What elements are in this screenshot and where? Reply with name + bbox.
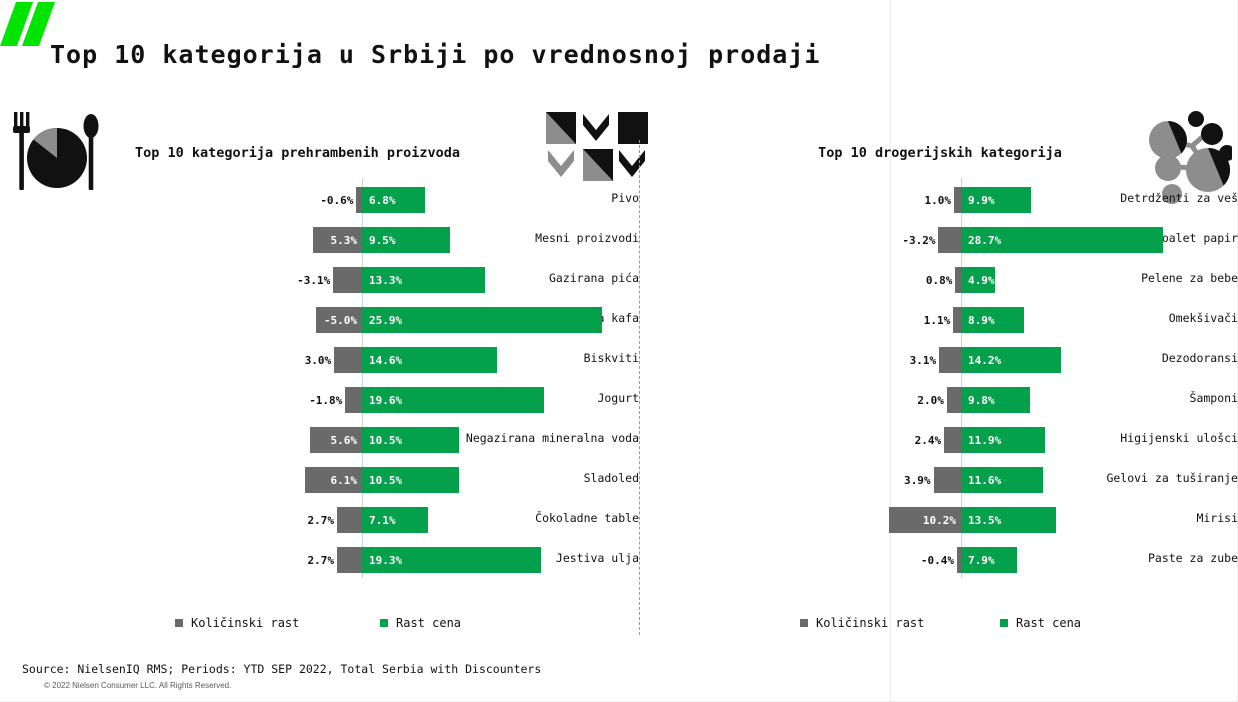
chart-row: Čokoladne table2.7%7.1%	[0, 498, 639, 538]
nielseniq-logo	[4, 2, 54, 46]
legend-item-price: Rast cena	[380, 616, 461, 630]
bar-price-value: 9.5%	[362, 234, 396, 247]
legend-swatch-price-icon	[1000, 619, 1008, 627]
bar-price-growth: 25.9%	[362, 307, 602, 333]
bar-price-value: 14.2%	[961, 354, 1001, 367]
chart-row: Pivo-0.6%6.8%	[0, 178, 639, 218]
bar-price-value: 7.9%	[961, 554, 995, 567]
bar-price-growth: 4.9%	[961, 267, 995, 293]
bar-volume-growth: 1.0%	[954, 187, 961, 213]
bar-volume-growth: 3.9%	[934, 467, 961, 493]
bar-price-growth: 10.5%	[362, 427, 459, 453]
bar-price-growth: 28.7%	[961, 227, 1163, 253]
bar-volume-growth: 1.1%	[953, 307, 961, 333]
bar-price-growth: 11.6%	[961, 467, 1043, 493]
chart-row: Jestiva ulja2.7%19.3%	[0, 538, 639, 578]
chart-row: Jogurt-1.8%19.6%	[0, 378, 639, 418]
bar-volume-value: 3.9%	[904, 474, 934, 487]
bar-price-value: 28.7%	[961, 234, 1001, 247]
bar-price-value: 13.5%	[961, 514, 1001, 527]
chart-row: Gelovi za tuširanje3.9%11.6%	[640, 458, 1238, 498]
row-plot: -3.1%13.3%	[0, 258, 639, 298]
row-plot: 3.9%11.6%	[640, 458, 1238, 498]
bar-price-value: 9.8%	[961, 394, 995, 407]
legend-label-price: Rast cena	[1016, 616, 1081, 630]
chart-row: Negazirana mineralna voda5.6%10.5%	[0, 418, 639, 458]
panel-drogerija-title: Top 10 drogerijskih kategorija	[641, 145, 1238, 161]
bar-volume-value: 5.6%	[330, 434, 362, 447]
bar-price-growth: 14.2%	[961, 347, 1061, 373]
row-plot: 6.1%10.5%	[0, 458, 639, 498]
row-plot: 1.0%9.9%	[640, 178, 1238, 218]
panel-drogerija: Top 10 drogerijskih kategorija Detrdžent…	[640, 120, 1238, 640]
chart-row: Biskviti3.0%14.6%	[0, 338, 639, 378]
bar-volume-value: 2.4%	[915, 434, 945, 447]
row-plot: 3.1%14.2%	[640, 338, 1238, 378]
bar-volume-value: 0.8%	[926, 274, 956, 287]
row-plot: 0.8%4.9%	[640, 258, 1238, 298]
chart-row: Sladoled6.1%10.5%	[0, 458, 639, 498]
chart-drogerija: Detrdženti za veš1.0%9.9%Toalet papir-3.…	[640, 178, 1238, 640]
bar-price-value: 14.6%	[362, 354, 402, 367]
bar-price-value: 13.3%	[362, 274, 402, 287]
bar-price-growth: 7.9%	[961, 547, 1017, 573]
bar-price-growth: 10.5%	[362, 467, 459, 493]
bar-volume-value: 2.7%	[307, 514, 337, 527]
bar-price-growth: 14.6%	[362, 347, 497, 373]
bar-volume-growth: -3.2%	[938, 227, 961, 253]
legend-label-volume: Količinski rast	[191, 616, 299, 630]
row-plot: 1.1%8.9%	[640, 298, 1238, 338]
chart-food: Pivo-0.6%6.8%Mesni proizvodi5.3%9.5%Gazi…	[0, 178, 639, 640]
bar-volume-growth: 5.3%	[313, 227, 362, 253]
bar-volume-value: 5.3%	[330, 234, 362, 247]
bar-volume-value: -3.2%	[902, 234, 938, 247]
bar-price-growth: 19.6%	[362, 387, 544, 413]
bar-price-growth: 13.5%	[961, 507, 1056, 533]
row-plot: 2.7%7.1%	[0, 498, 639, 538]
bar-volume-value: -1.8%	[309, 394, 345, 407]
bar-price-growth: 13.3%	[362, 267, 485, 293]
row-plot: 2.4%11.9%	[640, 418, 1238, 458]
bar-price-growth: 9.9%	[961, 187, 1031, 213]
row-plot: 2.7%19.3%	[0, 538, 639, 578]
chart-drogerija-legend: Količinski rast Rast cena	[640, 616, 1238, 636]
bar-volume-value: -0.4%	[921, 554, 957, 567]
bar-volume-value: 3.0%	[305, 354, 335, 367]
footer-copyright: © 2022 Nielsen Consumer LLC. All Rights …	[44, 681, 231, 690]
bar-price-value: 7.1%	[362, 514, 396, 527]
chart-row: Mlevena kafa-5.0%25.9%	[0, 298, 639, 338]
bar-price-value: 11.9%	[961, 434, 1001, 447]
row-plot: 10.2%13.5%	[640, 498, 1238, 538]
chart-row: Dezodoransi3.1%14.2%	[640, 338, 1238, 378]
legend-item-volume: Količinski rast	[800, 616, 924, 630]
row-plot: 5.6%10.5%	[0, 418, 639, 458]
chart-row: Detrdženti za veš1.0%9.9%	[640, 178, 1238, 218]
bar-volume-growth: 3.0%	[334, 347, 362, 373]
chart-drogerija-rows: Detrdženti za veš1.0%9.9%Toalet papir-3.…	[640, 178, 1238, 578]
page-title: Top 10 kategorija u Srbiji po vrednosnoj…	[50, 40, 1050, 69]
row-plot: -5.0%25.9%	[0, 298, 639, 338]
legend-item-price: Rast cena	[1000, 616, 1081, 630]
bar-price-value: 10.5%	[362, 474, 402, 487]
row-plot: 3.0%14.6%	[0, 338, 639, 378]
bar-volume-value: 10.2%	[923, 514, 961, 527]
bar-price-value: 19.6%	[362, 394, 402, 407]
bar-volume-growth: -3.1%	[333, 267, 362, 293]
chart-food-legend: Količinski rast Rast cena	[0, 616, 639, 636]
legend-item-volume: Količinski rast	[175, 616, 299, 630]
bar-price-growth: 9.5%	[362, 227, 450, 253]
chart-row: Gazirana pića-3.1%13.3%	[0, 258, 639, 298]
row-plot: -3.2%28.7%	[640, 218, 1238, 258]
bar-volume-value: -3.1%	[297, 274, 333, 287]
legend-label-volume: Količinski rast	[816, 616, 924, 630]
chart-row: Toalet papir-3.2%28.7%	[640, 218, 1238, 258]
bar-volume-growth: -1.8%	[345, 387, 362, 413]
bar-price-value: 8.9%	[961, 314, 995, 327]
panel-food-title: Top 10 kategorija prehrambenih proizvoda	[0, 145, 617, 161]
bar-price-value: 6.8%	[362, 194, 396, 207]
row-plot: 2.0%9.8%	[640, 378, 1238, 418]
chart-row: Paste za zube-0.4%7.9%	[640, 538, 1238, 578]
chart-row: Šamponi2.0%9.8%	[640, 378, 1238, 418]
bar-volume-growth: 2.0%	[947, 387, 961, 413]
bar-volume-growth: 5.6%	[310, 427, 362, 453]
bar-price-growth: 6.8%	[362, 187, 425, 213]
chart-food-rows: Pivo-0.6%6.8%Mesni proizvodi5.3%9.5%Gazi…	[0, 178, 639, 578]
bar-price-growth: 8.9%	[961, 307, 1024, 333]
footer-source: Source: NielsenIQ RMS; Periods: YTD SEP …	[22, 662, 541, 676]
chart-row: Mirisi10.2%13.5%	[640, 498, 1238, 538]
bar-volume-growth: 2.4%	[944, 427, 961, 453]
row-plot: -0.6%6.8%	[0, 178, 639, 218]
bar-volume-growth: 2.7%	[337, 507, 362, 533]
bar-price-value: 11.6%	[961, 474, 1001, 487]
bar-volume-value: 2.0%	[917, 394, 947, 407]
bar-volume-value: 1.0%	[924, 194, 954, 207]
bar-volume-growth: 3.1%	[939, 347, 961, 373]
chart-row: Pelene za bebe0.8%4.9%	[640, 258, 1238, 298]
chart-row: Omekšivači1.1%8.9%	[640, 298, 1238, 338]
bar-volume-value: 1.1%	[924, 314, 954, 327]
legend-label-price: Rast cena	[396, 616, 461, 630]
bar-price-growth: 19.3%	[362, 547, 541, 573]
bar-volume-value: 2.7%	[307, 554, 337, 567]
bar-price-value: 25.9%	[362, 314, 402, 327]
panel-food: Top 10 kategorija prehrambenih proizvoda…	[0, 120, 639, 640]
chart-row: Higijenski ulošci2.4%11.9%	[640, 418, 1238, 458]
bar-volume-growth: 2.7%	[337, 547, 362, 573]
legend-swatch-volume-icon	[175, 619, 183, 627]
bar-volume-value: 3.1%	[910, 354, 940, 367]
chart-row: Mesni proizvodi5.3%9.5%	[0, 218, 639, 258]
legend-swatch-volume-icon	[800, 619, 808, 627]
slide-root: Top 10 kategorija u Srbiji po vrednosnoj…	[0, 0, 1238, 702]
bar-price-growth: 11.9%	[961, 427, 1045, 453]
bar-volume-value: -5.0%	[324, 314, 362, 327]
bar-price-value: 10.5%	[362, 434, 402, 447]
bar-price-value: 4.9%	[961, 274, 995, 287]
bar-volume-growth: 10.2%	[889, 507, 961, 533]
row-plot: -0.4%7.9%	[640, 538, 1238, 578]
bar-price-value: 9.9%	[961, 194, 995, 207]
bar-price-growth: 9.8%	[961, 387, 1030, 413]
legend-swatch-price-icon	[380, 619, 388, 627]
row-plot: -1.8%19.6%	[0, 378, 639, 418]
bar-price-value: 19.3%	[362, 554, 402, 567]
bar-price-growth: 7.1%	[362, 507, 428, 533]
row-plot: 5.3%9.5%	[0, 218, 639, 258]
bar-volume-growth: -5.0%	[316, 307, 362, 333]
bar-volume-value: 6.1%	[330, 474, 362, 487]
bar-volume-value: -0.6%	[320, 194, 356, 207]
bar-volume-growth: 6.1%	[305, 467, 362, 493]
